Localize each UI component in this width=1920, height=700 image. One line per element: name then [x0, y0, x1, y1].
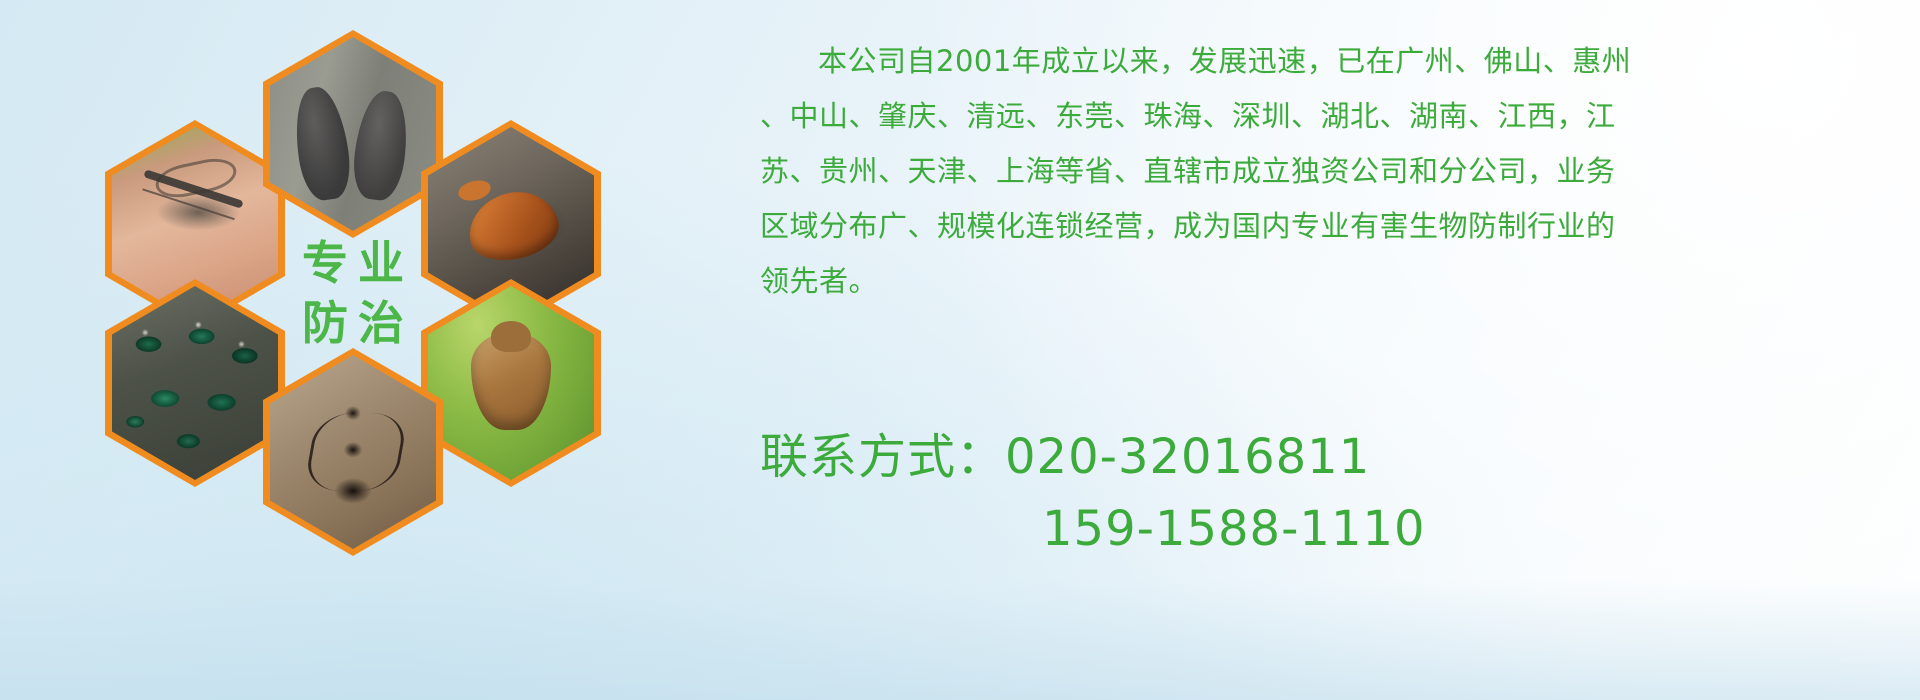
pest-control-banner: 专业 防治 本公司自2001年成立以来，发展迅速，已在广州、佛山、惠州 、中山、…	[0, 0, 1920, 700]
about-line-5: 领先者。	[760, 254, 1840, 309]
contact-phone-primary[interactable]: 联系方式：020-32016811	[760, 421, 1840, 493]
hex-cell-stinkbug[interactable]	[421, 279, 601, 487]
hex-cell-slogan: 专业 防治	[263, 189, 443, 397]
hex-inner-flies	[112, 286, 278, 480]
contact-block: 联系方式：020-32016811 159-1588-1110	[760, 421, 1840, 565]
slogan-label: 专业 防治	[263, 189, 443, 397]
about-line-1: 本公司自2001年成立以来，发展迅速，已在广州、佛山、惠州	[760, 34, 1840, 89]
slogan-line-1: 专业	[292, 240, 414, 286]
stinkbug-photo	[428, 286, 594, 480]
content-column: 本公司自2001年成立以来，发展迅速，已在广州、佛山、惠州 、中山、肇庆、清远、…	[760, 34, 1840, 565]
about-paragraph: 本公司自2001年成立以来，发展迅速，已在广州、佛山、惠州 、中山、肇庆、清远、…	[760, 34, 1840, 309]
hex-cell-flies[interactable]	[105, 279, 285, 487]
about-line-4: 区域分布广、规模化连锁经营，成为国内专业有害生物防制行业的	[760, 199, 1840, 254]
flies-photo	[112, 286, 278, 480]
hex-photo-cluster: 专业 防治	[95, 12, 695, 592]
about-line-3: 苏、贵州、天津、上海等省、直辖市成立独资公司和分公司，业务	[760, 144, 1840, 199]
contact-phone-secondary[interactable]: 159-1588-1110	[760, 493, 1840, 565]
slogan-line-2: 防治	[292, 300, 414, 346]
hex-inner-stinkbug	[428, 286, 594, 480]
about-line-2: 、中山、肇庆、清远、东莞、珠海、深圳、湖北、湖南、江西，江	[760, 89, 1840, 144]
